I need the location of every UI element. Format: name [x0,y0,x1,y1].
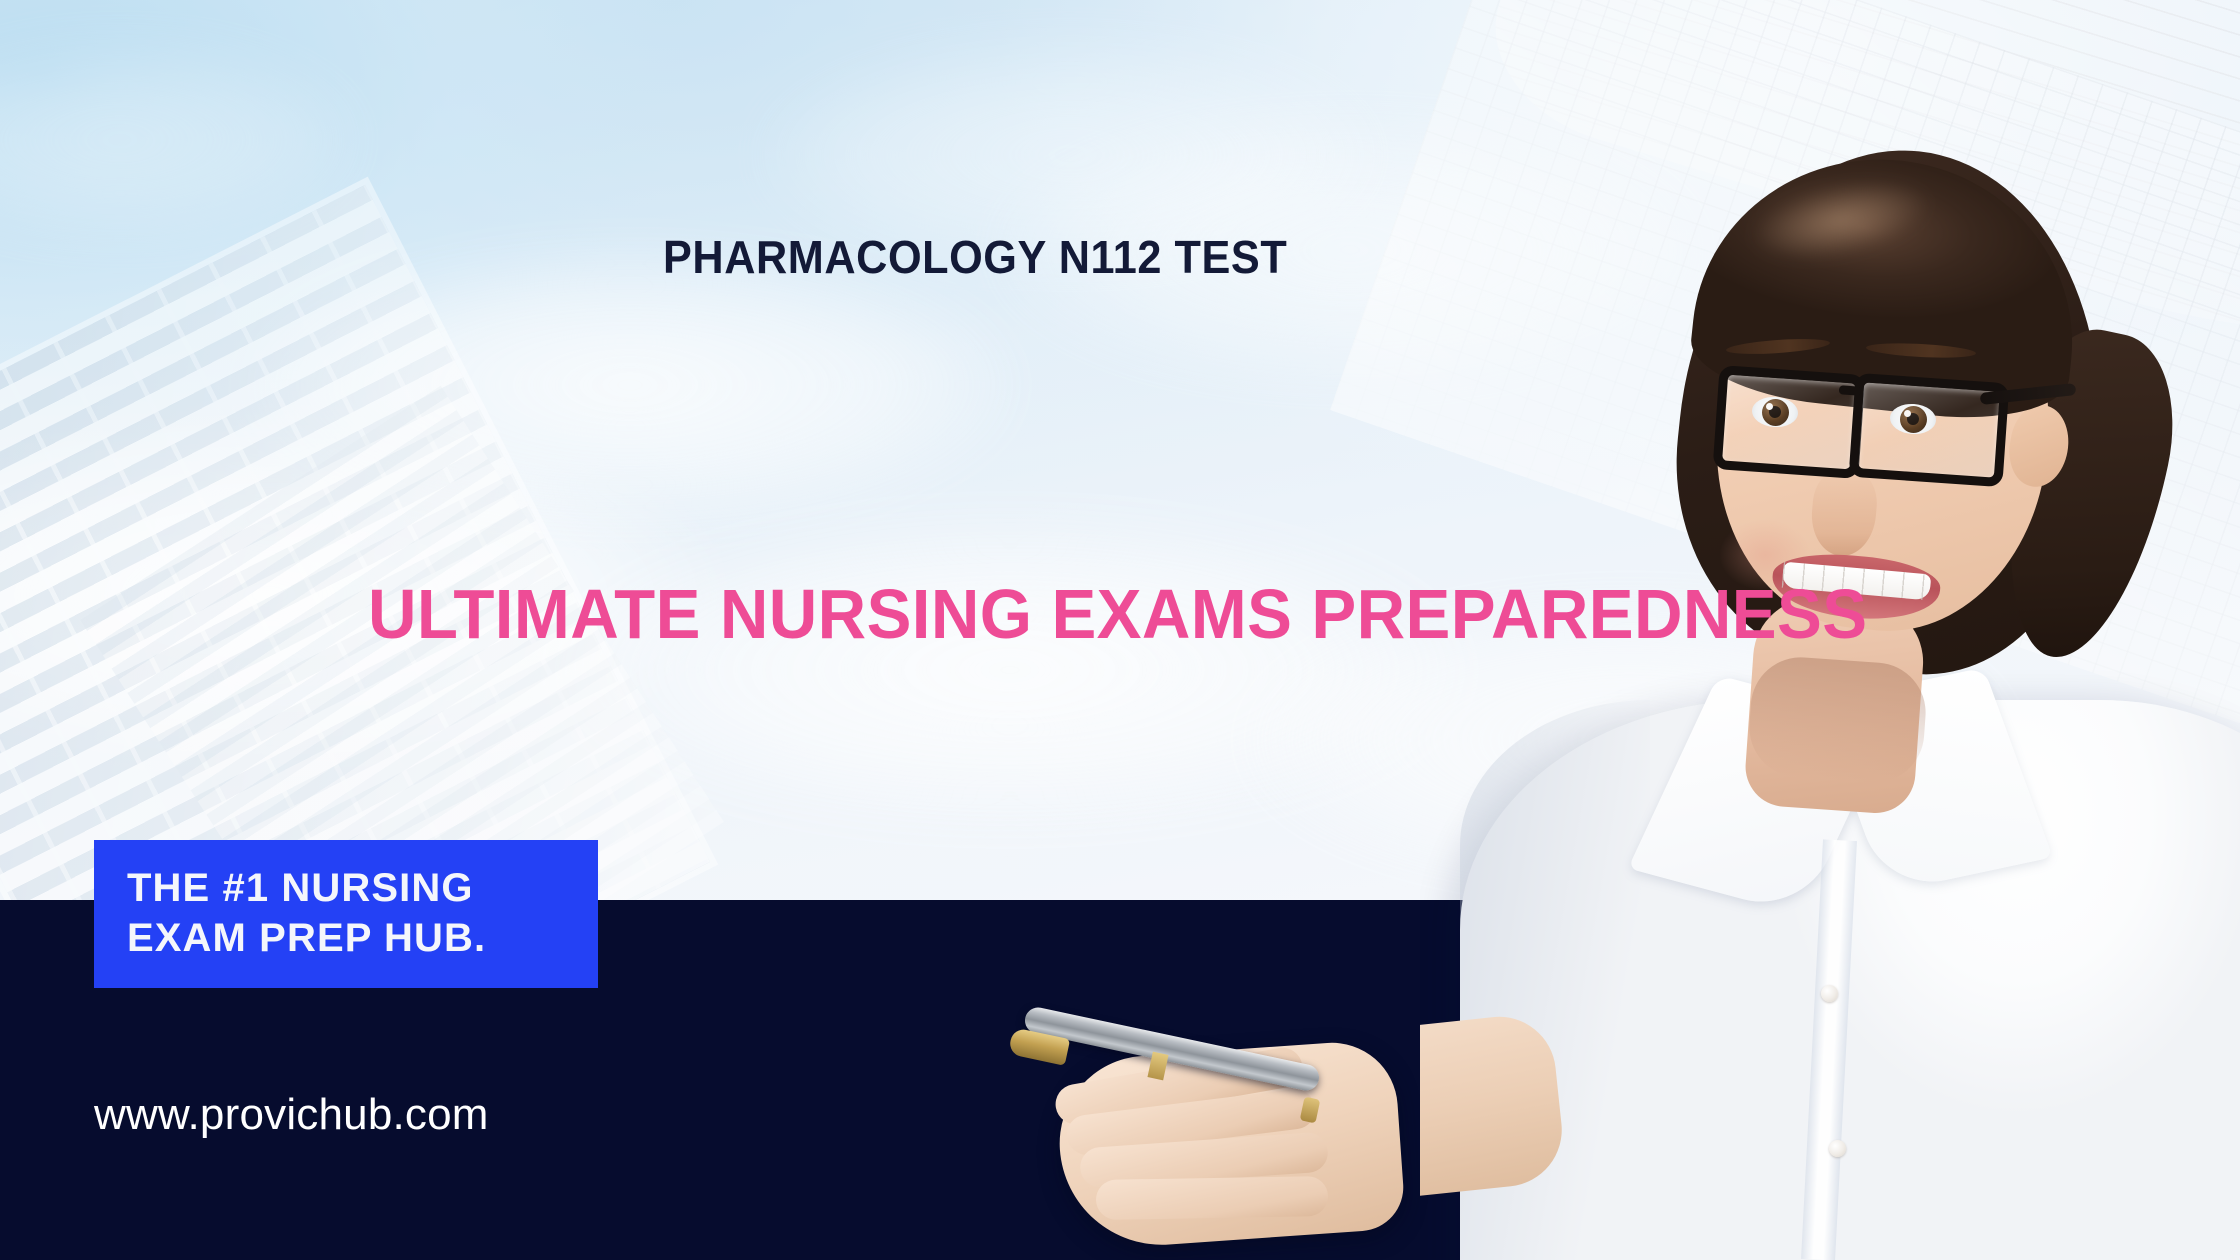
finger [1096,1176,1329,1220]
shirt-button [1829,1140,1846,1157]
eyeglasses-lens-right [1849,373,2010,487]
tagline-line-2: EXAM PREP HUB. [127,914,598,964]
neck-shadow [1746,654,1929,786]
hand-holding-pen [1000,990,1420,1250]
course-title: PHARMACOLOGY N112 TEST [663,230,1287,284]
eyeglasses-bridge [1839,385,1862,396]
shirt-button [1821,985,1838,1002]
tagline-badge: THE #1 NURSING EXAM PREP HUB. [94,840,598,988]
website-url[interactable]: www.provichub.com [94,1090,489,1140]
tagline-line-1: THE #1 NURSING [127,864,598,914]
eyeglasses-lens-left [1713,365,1866,479]
promo-banner: PHARMACOLOGY N112 TEST ULTIMATE NURSING … [0,0,2240,1260]
page-title: ULTIMATE NURSING EXAMS PREPAREDNESS [368,574,1867,654]
